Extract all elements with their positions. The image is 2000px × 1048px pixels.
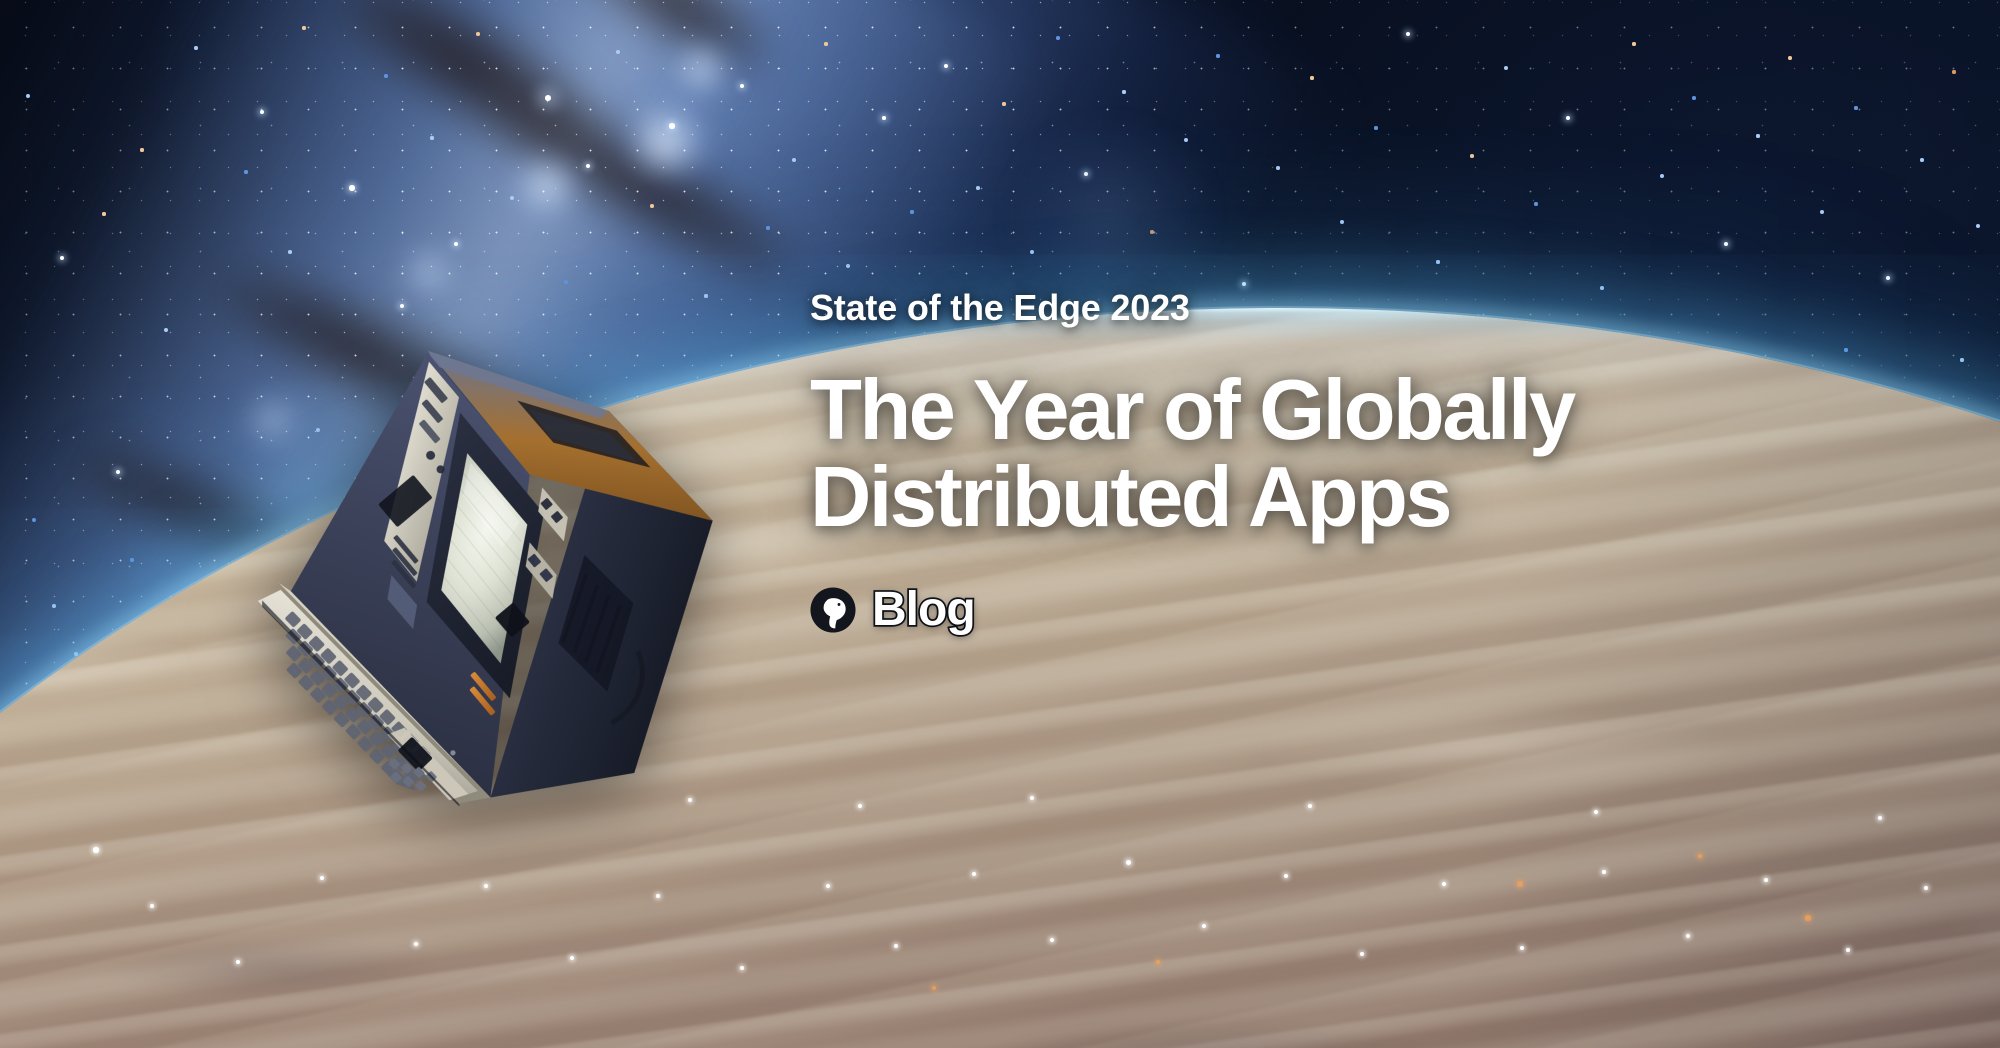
star-icon	[858, 804, 862, 808]
star-icon	[1308, 804, 1312, 808]
star-icon	[1594, 810, 1598, 814]
star-icon	[1030, 796, 1035, 801]
star-icon	[1924, 886, 1928, 890]
star-icon	[93, 847, 98, 852]
star-icon	[1764, 878, 1769, 883]
star-icon	[1846, 948, 1850, 952]
star-icon	[656, 894, 661, 899]
deno-dinosaur-logo-icon[interactable]	[810, 587, 856, 633]
blog-hero-card: State of the Edge 2023 The Year of Globa…	[0, 0, 2000, 1048]
star-icon	[972, 872, 976, 876]
eyebrow-label: State of the Edge 2023	[810, 288, 1930, 328]
star-icon	[1284, 874, 1288, 878]
star-icon	[1686, 934, 1690, 938]
star-icon	[484, 884, 488, 888]
star-icon	[1126, 860, 1131, 865]
brand-bar[interactable]: Blog	[810, 586, 1930, 634]
star-icon	[414, 942, 418, 946]
star-icon	[1360, 952, 1364, 956]
headline-line-1: The Year of Globally	[810, 368, 1930, 455]
star-icon	[150, 904, 154, 908]
page-title: The Year of Globally Distributed Apps	[810, 368, 1930, 541]
brand-label[interactable]: Blog	[872, 586, 975, 634]
star-icon	[1878, 816, 1882, 820]
headline-line-2: Distributed Apps	[810, 455, 1930, 542]
star-icon	[1050, 938, 1054, 942]
star-icon	[570, 956, 574, 960]
star-icon	[740, 966, 744, 970]
hero-text-block: State of the Edge 2023 The Year of Globa…	[810, 288, 1930, 634]
star-icon	[1442, 882, 1447, 887]
star-icon	[1602, 870, 1606, 874]
star-icon	[688, 798, 692, 802]
star-icon	[320, 876, 325, 881]
star-icon	[1520, 946, 1524, 950]
star-icon	[826, 884, 831, 889]
star-icon	[894, 944, 898, 948]
star-icon	[1202, 924, 1206, 928]
star-icon	[236, 960, 240, 964]
